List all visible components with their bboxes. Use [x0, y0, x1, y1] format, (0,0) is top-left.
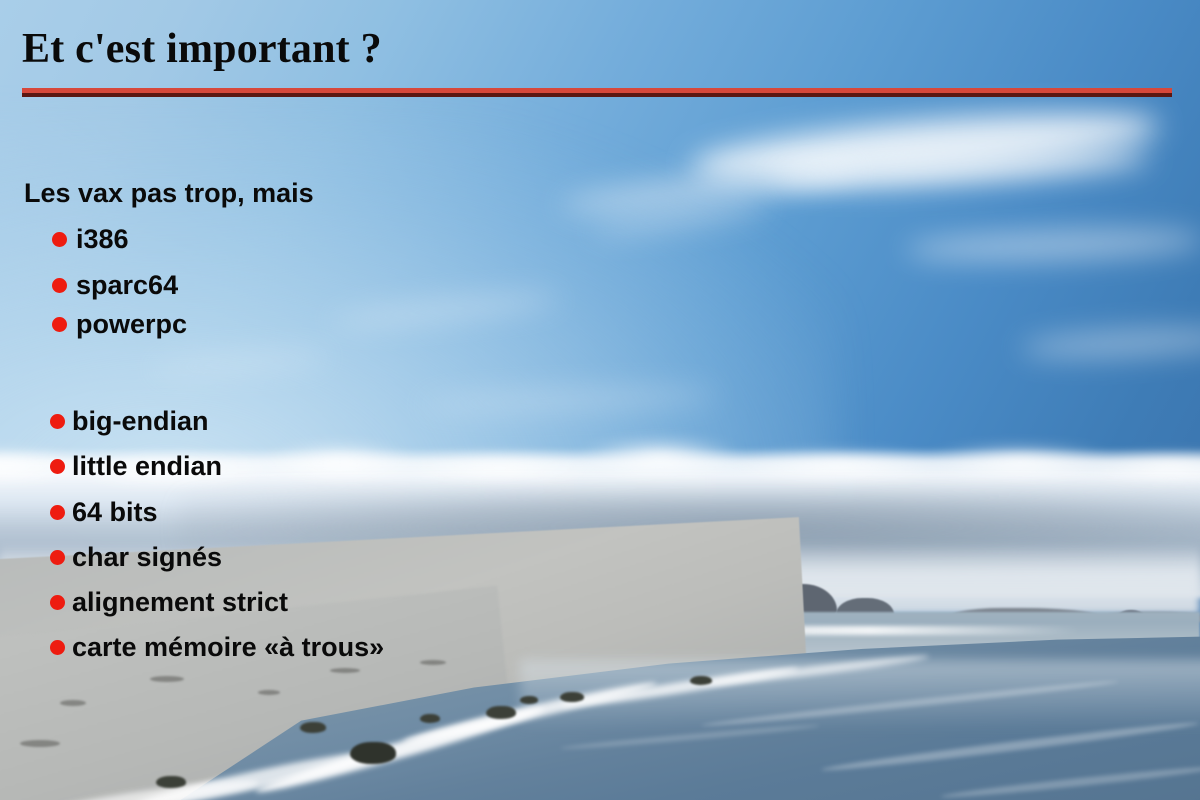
- seaweed-clump: [520, 696, 538, 704]
- sand-debris: [20, 740, 60, 747]
- list-item-label: i386: [76, 224, 129, 255]
- list-item: powerpc: [52, 309, 187, 340]
- bullet-dot-icon: [50, 414, 65, 429]
- slide-title: Et c'est important ?: [22, 28, 382, 70]
- list-item-label: 64 bits: [72, 497, 158, 528]
- bullet-dot-icon: [50, 640, 65, 655]
- bullet-dot-icon: [50, 505, 65, 520]
- list-item: little endian: [50, 451, 222, 482]
- sand-debris: [150, 676, 184, 682]
- bullet-dot-icon: [52, 278, 67, 293]
- slide: Et c'est important ? Les vax pas trop, m…: [0, 0, 1200, 800]
- list-item-label: sparc64: [76, 270, 178, 301]
- background-photo: [0, 0, 1200, 800]
- seaweed-clump: [350, 742, 396, 764]
- sand-debris: [258, 690, 280, 695]
- list-item: 64 bits: [50, 497, 158, 528]
- sand-debris: [60, 700, 86, 706]
- seaweed-clump: [300, 722, 326, 733]
- list-item: char signés: [50, 542, 222, 573]
- title-underline-rule: [22, 88, 1172, 93]
- list-item: sparc64: [52, 270, 178, 301]
- list-item-label: big-endian: [72, 406, 209, 437]
- bullet-dot-icon: [52, 232, 67, 247]
- bullet-dot-icon: [52, 317, 67, 332]
- seaweed-clump: [156, 776, 186, 788]
- list-item: i386: [52, 224, 129, 255]
- bullet-dot-icon: [50, 595, 65, 610]
- seaweed-clump: [560, 692, 584, 702]
- list-item: carte mémoire «à trous»: [50, 632, 384, 663]
- sand-debris: [420, 660, 446, 665]
- list-item-label: little endian: [72, 451, 222, 482]
- bullet-dot-icon: [50, 459, 65, 474]
- list-item: alignement strict: [50, 587, 288, 618]
- list-item: big-endian: [50, 406, 209, 437]
- sand-debris: [330, 668, 360, 673]
- list-item-label: powerpc: [76, 309, 187, 340]
- lead-line: Les vax pas trop, mais: [24, 178, 314, 209]
- list-item-label: carte mémoire «à trous»: [72, 632, 384, 663]
- list-item-label: alignement strict: [72, 587, 288, 618]
- bullet-dot-icon: [50, 550, 65, 565]
- seaweed-clump: [420, 714, 440, 723]
- seaweed-clump: [486, 706, 516, 719]
- seaweed-clump: [690, 676, 712, 685]
- list-item-label: char signés: [72, 542, 222, 573]
